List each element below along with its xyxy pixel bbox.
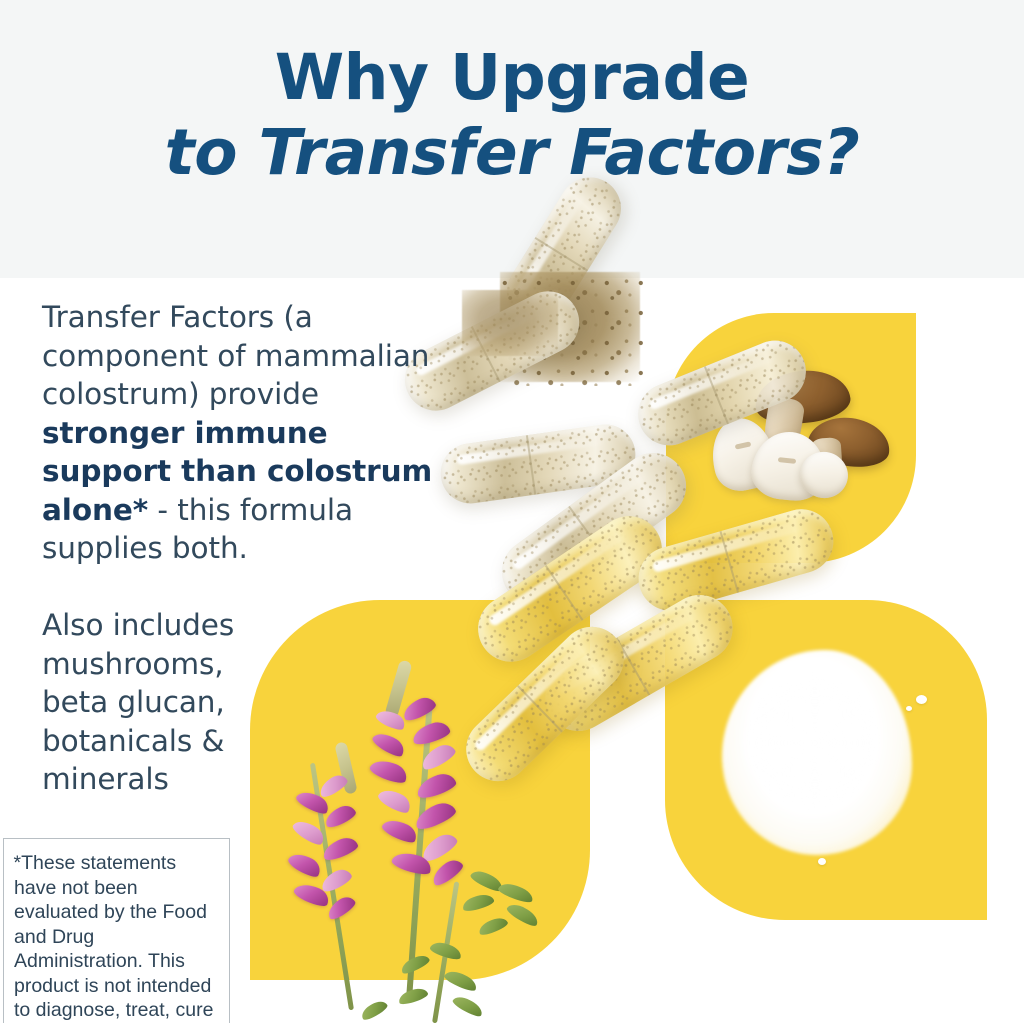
headline-line-1: Why Upgrade bbox=[0, 46, 1024, 109]
page-title: Why Upgrade to Transfer Factors? bbox=[0, 46, 1024, 184]
paragraph-1-asterisk: * bbox=[133, 493, 148, 527]
body-paragraph-2: Also includes mushrooms, beta glucan, bo… bbox=[42, 606, 292, 799]
body-paragraph-1: Transfer Factors (a component of mammali… bbox=[42, 298, 442, 568]
promo-graphic: Why Upgrade to Transfer Factors? bbox=[0, 0, 1024, 1023]
botanical-panel bbox=[250, 600, 590, 980]
disclaimer-text: *These statements have not been evaluate… bbox=[14, 851, 219, 1023]
disclaimer-box: *These statements have not been evaluate… bbox=[3, 838, 230, 1023]
headline-line-2: to Transfer Factors? bbox=[0, 121, 1024, 184]
paragraph-1-lead: Transfer Factors (a component of mammali… bbox=[42, 300, 429, 411]
mushroom-panel bbox=[666, 313, 916, 563]
powder-panel bbox=[665, 600, 987, 920]
